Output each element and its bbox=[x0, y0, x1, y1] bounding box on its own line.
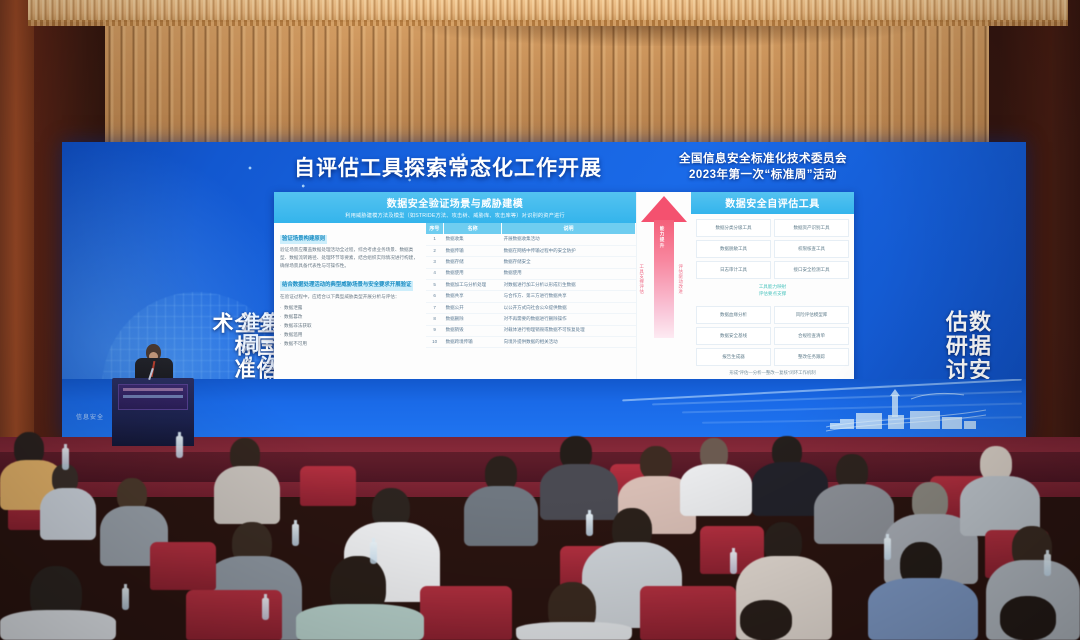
led-bottom-caption: 信息安全 bbox=[76, 412, 104, 421]
right-panel-footnote: 形成“评估—分析—整改—复核”闭环工作机制 bbox=[691, 366, 854, 377]
table-row: 3 数据存储 数据存储安全 bbox=[426, 257, 636, 268]
tool-cell: 权限核查工具 bbox=[774, 240, 849, 258]
table-row: 2 数据传输 数据在网络中传输过程中的安全防护 bbox=[426, 245, 636, 256]
paragraph-1: 验证场景应覆盖数据处理活动全过程，综合考虑业务场景、数据类型、数据流转路径、处理… bbox=[280, 246, 421, 270]
cell-name: 数据公开 bbox=[444, 302, 502, 313]
heading-1: 验证场景构建原则 bbox=[280, 235, 327, 244]
cell-desc: 对载体进行物理销毁或数据不可恢复处理 bbox=[502, 325, 636, 336]
tool-cell: 数据安全基线 bbox=[696, 327, 771, 345]
heading-2: 结合数据处理活动的典型威胁场景与安全要求开展验证 bbox=[280, 281, 413, 290]
data-activity-table: 序号 名称 说明 1 数据收集 开展数据收集活动 bbox=[426, 223, 636, 348]
table-row: 1 数据收集 开展数据收集活动 bbox=[426, 234, 636, 245]
list-item: 数据泄露 bbox=[280, 304, 421, 313]
tool-cell: 整改任务跟踪 bbox=[774, 348, 849, 366]
tool-cell: 数据脱敏工具 bbox=[696, 240, 771, 258]
city-skyline-icon bbox=[826, 389, 986, 435]
tool-cell: 合规检查清单 bbox=[774, 327, 849, 345]
tool-cell: 风险评估模型库 bbox=[774, 306, 849, 324]
curtain-valance-edge bbox=[28, 20, 1068, 26]
table-row: 9 数据销毁 对载体进行物理销毁或数据不可恢复处理 bbox=[426, 325, 636, 336]
col-no: 序号 bbox=[426, 223, 444, 234]
threat-bullet-list: 数据泄露 数据篡改 数据非法获取 数据滥用 数据不可用 bbox=[280, 304, 421, 349]
table-row: 10 数据跨境传输 向境外提供数据的相关活动 bbox=[426, 337, 636, 348]
cell-name: 数据收集 bbox=[444, 234, 502, 245]
tool-grid-top: 数据分类分级工具 数据资产识别工具 数据脱敏工具 权限核查工具 日志审计工具 接… bbox=[691, 214, 854, 279]
cell-name: 数据加工与分析处理 bbox=[444, 279, 502, 290]
tool-cell: 数据血缘分析 bbox=[696, 306, 771, 324]
arrow-label: 能力提升 bbox=[659, 226, 665, 248]
arrow-head-icon bbox=[641, 196, 687, 222]
cell-desc: 与合作方、第三方进行数据共享 bbox=[502, 291, 636, 302]
cell-name: 数据存储 bbox=[444, 257, 502, 268]
podium-nameplate bbox=[118, 384, 188, 410]
cell-name: 数据使用 bbox=[444, 268, 502, 279]
cell-no: 8 bbox=[426, 314, 444, 325]
cell-no: 2 bbox=[426, 245, 444, 256]
cell-desc: 对数据进行加工分析以形成衍生数据 bbox=[502, 279, 636, 290]
cell-name: 数据删除 bbox=[444, 314, 502, 325]
table-row: 4 数据使用 数据使用 bbox=[426, 268, 636, 279]
list-item: 数据非法获取 bbox=[280, 322, 421, 331]
cell-no: 3 bbox=[426, 257, 444, 268]
left-panel-text-column: 验证场景构建原则 验证场景应覆盖数据处理活动全过程，综合考虑业务场景、数据类型、… bbox=[274, 223, 426, 348]
curtain-valance bbox=[28, 0, 1068, 22]
cell-desc: 数据存储安全 bbox=[502, 257, 636, 268]
podium-plate-line-2 bbox=[123, 395, 183, 398]
led-video-wall: 自评估工具探索常态化工作开展 全国信息安全标准化技术委员会 2023年第一次“标… bbox=[62, 142, 1026, 437]
cell-no: 1 bbox=[426, 234, 444, 245]
cell-name: 数据共享 bbox=[444, 291, 502, 302]
cell-desc: 向境外提供数据的相关活动 bbox=[502, 337, 636, 348]
cell-name: 数据销毁 bbox=[444, 325, 502, 336]
organizer-line-1: 全国信息安全标准化技术委员会 bbox=[658, 152, 868, 168]
list-item: 数据篡改 bbox=[280, 313, 421, 322]
left-panel-body: 验证场景构建原则 验证场景应覆盖数据处理活动全过程，综合考虑业务场景、数据类型、… bbox=[274, 223, 636, 348]
table-row: 7 数据公开 以公开方式向社会公众提供数据 bbox=[426, 302, 636, 313]
cell-no: 5 bbox=[426, 279, 444, 290]
led-bottom-graphic-band: 信息安全 bbox=[62, 379, 1026, 437]
mid-note-line-1: 工具能力映射 bbox=[691, 283, 854, 291]
cell-desc: 对不再需要的数据进行删除操作 bbox=[502, 314, 636, 325]
table-row: 8 数据删除 对不再需要的数据进行删除操作 bbox=[426, 314, 636, 325]
tool-cell: 数据分类分级工具 bbox=[696, 219, 771, 237]
cell-desc: 数据使用 bbox=[502, 268, 636, 279]
podium-plate-line-1 bbox=[123, 388, 183, 391]
event-organizer-block: 全国信息安全标准化技术委员会 2023年第一次“标准周”活动 bbox=[658, 152, 868, 183]
cell-no: 4 bbox=[426, 268, 444, 279]
tool-cell: 数据资产识别工具 bbox=[774, 219, 849, 237]
tool-grid-bottom: 数据血缘分析 风险评估模型库 数据安全基线 合规检查清单 报告生成器 整改任务跟… bbox=[691, 301, 854, 366]
right-panel-header: 数据安全自评估工具 bbox=[691, 192, 854, 214]
cell-desc: 开展数据收集活动 bbox=[502, 234, 636, 245]
left-panel-title: 数据安全验证场景与威胁建模 bbox=[274, 195, 636, 210]
list-item: 数据滥用 bbox=[280, 331, 421, 340]
cell-name: 数据传输 bbox=[444, 245, 502, 256]
arrow-side-label-left: 工具支撑评估 bbox=[639, 264, 645, 294]
slide-title: 自评估工具探索常态化工作开展 bbox=[294, 152, 602, 182]
right-panel-title: 数据安全自评估工具 bbox=[691, 195, 854, 210]
cell-no: 10 bbox=[426, 337, 444, 348]
col-name: 名称 bbox=[444, 223, 502, 234]
col-desc: 说明 bbox=[502, 223, 636, 234]
tool-cell: 接口安全检测工具 bbox=[774, 261, 849, 279]
cell-no: 6 bbox=[426, 291, 444, 302]
tool-cell: 报告生成器 bbox=[696, 348, 771, 366]
left-panel-header: 数据安全验证场景与威胁建模 利用威胁建模方法及模型（如STRIDE方法、攻击树、… bbox=[274, 192, 636, 223]
list-item: 数据不可用 bbox=[280, 340, 421, 349]
arrow-side-label-right: 评估驱动改进 bbox=[678, 264, 684, 294]
conference-hall-photo: 自评估工具探索常态化工作开展 全国信息安全标准化技术委员会 2023年第一次“标… bbox=[0, 0, 1080, 640]
mid-note-block: 工具能力映射 评估要点支撑 bbox=[691, 279, 854, 302]
cell-desc: 以公开方式向社会公众提供数据 bbox=[502, 302, 636, 313]
cell-no: 9 bbox=[426, 325, 444, 336]
audience-area bbox=[0, 430, 1080, 640]
mid-note-line-2: 评估要点支撑 bbox=[691, 290, 854, 298]
cell-name: 数据跨境传输 bbox=[444, 337, 502, 348]
paragraph-2: 在验证过程中，应结合以下典型威胁类型开展分析与评估： bbox=[280, 293, 421, 301]
cell-desc: 数据在网络中传输过程中的安全防护 bbox=[502, 245, 636, 256]
organizer-line-2: 2023年第一次“标准周”活动 bbox=[658, 168, 868, 184]
table-row: 6 数据共享 与合作方、第三方进行数据共享 bbox=[426, 291, 636, 302]
cell-no: 7 bbox=[426, 302, 444, 313]
table-header-row: 序号 名称 说明 bbox=[426, 223, 636, 234]
tool-cell: 日志审计工具 bbox=[696, 261, 771, 279]
table-row: 5 数据加工与分析处理 对数据进行加工分析以形成衍生数据 bbox=[426, 279, 636, 290]
left-panel-subtitle: 利用威胁建模方法及模型（如STRIDE方法、攻击树、威胁库、攻击库等）对识别的资… bbox=[274, 212, 636, 219]
